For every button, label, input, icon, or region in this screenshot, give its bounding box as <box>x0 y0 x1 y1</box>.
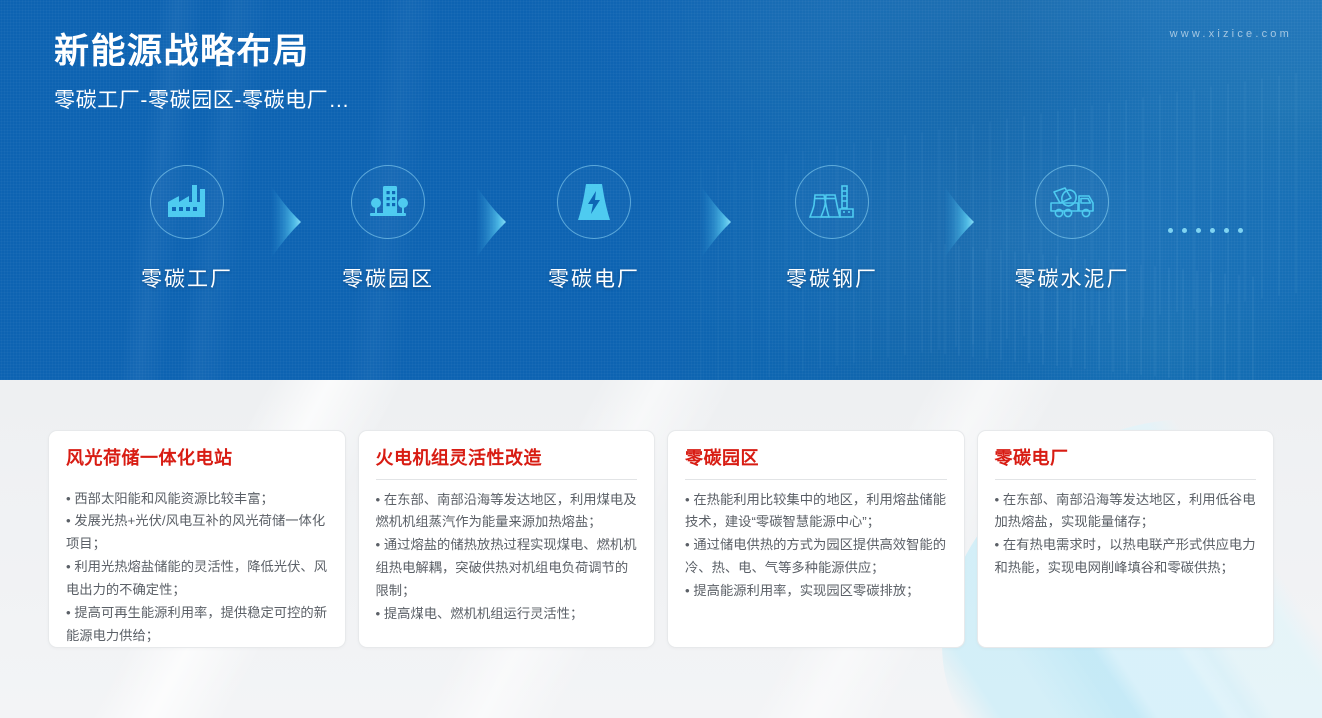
card-bullet: • 在东部、南部沿海等发达地区，利用煤电及燃机机组蒸汽作为能量来源加热熔盐； <box>376 489 638 535</box>
flow-step-label: 零碳工厂 <box>117 263 257 293</box>
flow-step-zero-carbon-factory[interactable]: 零碳工厂 <box>117 165 257 293</box>
card-title: 风光荷储一体化电站 <box>66 448 328 479</box>
industrial-park-icon <box>367 183 409 221</box>
card-body: • 在东部、南部沿海等发达地区，利用煤电及燃机机组蒸汽作为能量来源加热熔盐； •… <box>376 489 638 626</box>
card-body: • 在东部、南部沿海等发达地区，利用低谷电加热熔盐，实现能量储存； • 在有热电… <box>995 489 1257 580</box>
card-bullet: • 在热能利用比较集中的地区，利用熔盐储能技术，建设“零碳智慧能源中心”； <box>685 489 947 535</box>
flow-step-label: 零碳电厂 <box>524 263 664 293</box>
info-card[interactable]: 火电机组灵活性改造 • 在东部、南部沿海等发达地区，利用煤电及燃机机组蒸汽作为能… <box>358 430 656 648</box>
card-bullet: • 通过储电供热的方式为园区提供高效智能的冷、热、电、气等多种能源供应； <box>685 534 947 580</box>
chevron-right-arrow-1 <box>270 187 304 257</box>
info-card[interactable]: 风光荷储一体化电站 • 西部太阳能和风能资源比较丰富； • 发展光热+光伏/风电… <box>48 430 346 648</box>
trailing-dots <box>1168 228 1243 233</box>
card-bullet: • 西部太阳能和风能资源比较丰富； <box>66 488 328 511</box>
steel-plant-icon <box>809 182 855 222</box>
info-card[interactable]: 零碳电厂 • 在东部、南部沿海等发达地区，利用低谷电加热熔盐，实现能量储存； •… <box>977 430 1275 648</box>
card-bullet: • 提高煤电、燃机机组运行灵活性； <box>376 603 638 626</box>
icon-circle-1 <box>150 165 224 239</box>
factory-icon <box>166 183 208 221</box>
chevron-right-arrow-3 <box>700 187 734 257</box>
card-bullet: • 发展光热+光伏/风电互补的风光荷储一体化项目； <box>66 510 328 556</box>
card-body: • 在热能利用比较集中的地区，利用熔盐储能技术，建设“零碳智慧能源中心”； • … <box>685 489 947 603</box>
cement-mixer-truck-icon <box>1048 184 1096 220</box>
card-bullet: • 在有热电需求时，以热电联产形式供应电力和热能，实现电网削峰填谷和零碳供热； <box>995 534 1257 580</box>
flow-step-zero-carbon-park[interactable]: 零碳园区 <box>318 165 458 293</box>
card-bullet: • 通过熔盐的储热放热过程实现煤电、燃机机组热电解耦，突破供热对机组电负荷调节的… <box>376 534 638 603</box>
card-divider <box>995 479 1257 480</box>
icon-circle-5 <box>1035 165 1109 239</box>
info-card[interactable]: 零碳园区 • 在热能利用比较集中的地区，利用熔盐储能技术，建设“零碳智慧能源中心… <box>667 430 965 648</box>
chevron-right-arrow-4 <box>943 187 977 257</box>
detail-section: 风光荷储一体化电站 • 西部太阳能和风能资源比较丰富； • 发展光热+光伏/风电… <box>0 380 1322 718</box>
card-title: 零碳园区 <box>685 448 947 479</box>
slide-root: www.xizice.com 新能源战略布局 零碳工厂-零碳园区-零碳电厂… <box>0 0 1322 718</box>
card-title: 零碳电厂 <box>995 448 1257 479</box>
icon-circle-2 <box>351 165 425 239</box>
card-bullet: • 提高能源利用率，实现园区零碳排放； <box>685 580 947 603</box>
card-list: 风光荷储一体化电站 • 西部太阳能和风能资源比较丰富； • 发展光热+光伏/风电… <box>48 430 1274 648</box>
power-plant-bolt-icon <box>576 182 612 222</box>
flow-step-zero-carbon-cement-plant[interactable]: 零碳水泥厂 <box>1002 165 1142 293</box>
card-bullet: • 提高可再生能源利用率，提供稳定可控的新能源电力供给； <box>66 602 328 648</box>
flow-step-zero-carbon-steel-plant[interactable]: 零碳钢厂 <box>762 165 902 293</box>
card-bullet: • 在东部、南部沿海等发达地区，利用低谷电加热熔盐，实现能量储存； <box>995 489 1257 535</box>
icon-circle-3 <box>557 165 631 239</box>
chevron-right-arrow-2 <box>475 187 509 257</box>
flow-step-label: 零碳水泥厂 <box>1002 263 1142 293</box>
watermark-url: www.xizice.com <box>1170 28 1292 40</box>
process-flow: 零碳工厂 <box>0 165 1322 315</box>
card-bullet: • 利用光热熔盐储能的灵活性，降低光伏、风电出力的不确定性； <box>66 556 328 602</box>
card-divider <box>685 479 947 480</box>
page-subtitle: 零碳工厂-零碳园区-零碳电厂… <box>54 84 350 114</box>
flow-step-label: 零碳园区 <box>318 263 458 293</box>
hero-banner: www.xizice.com 新能源战略布局 零碳工厂-零碳园区-零碳电厂… <box>0 0 1322 380</box>
card-body: • 西部太阳能和风能资源比较丰富； • 发展光热+光伏/风电互补的风光荷储一体化… <box>66 488 328 648</box>
card-divider <box>376 479 638 480</box>
icon-circle-4 <box>795 165 869 239</box>
flow-step-label: 零碳钢厂 <box>762 263 902 293</box>
page-title: 新能源战略布局 <box>54 30 310 74</box>
flow-step-zero-carbon-power-plant[interactable]: 零碳电厂 <box>524 165 664 293</box>
card-title: 火电机组灵活性改造 <box>376 448 638 479</box>
